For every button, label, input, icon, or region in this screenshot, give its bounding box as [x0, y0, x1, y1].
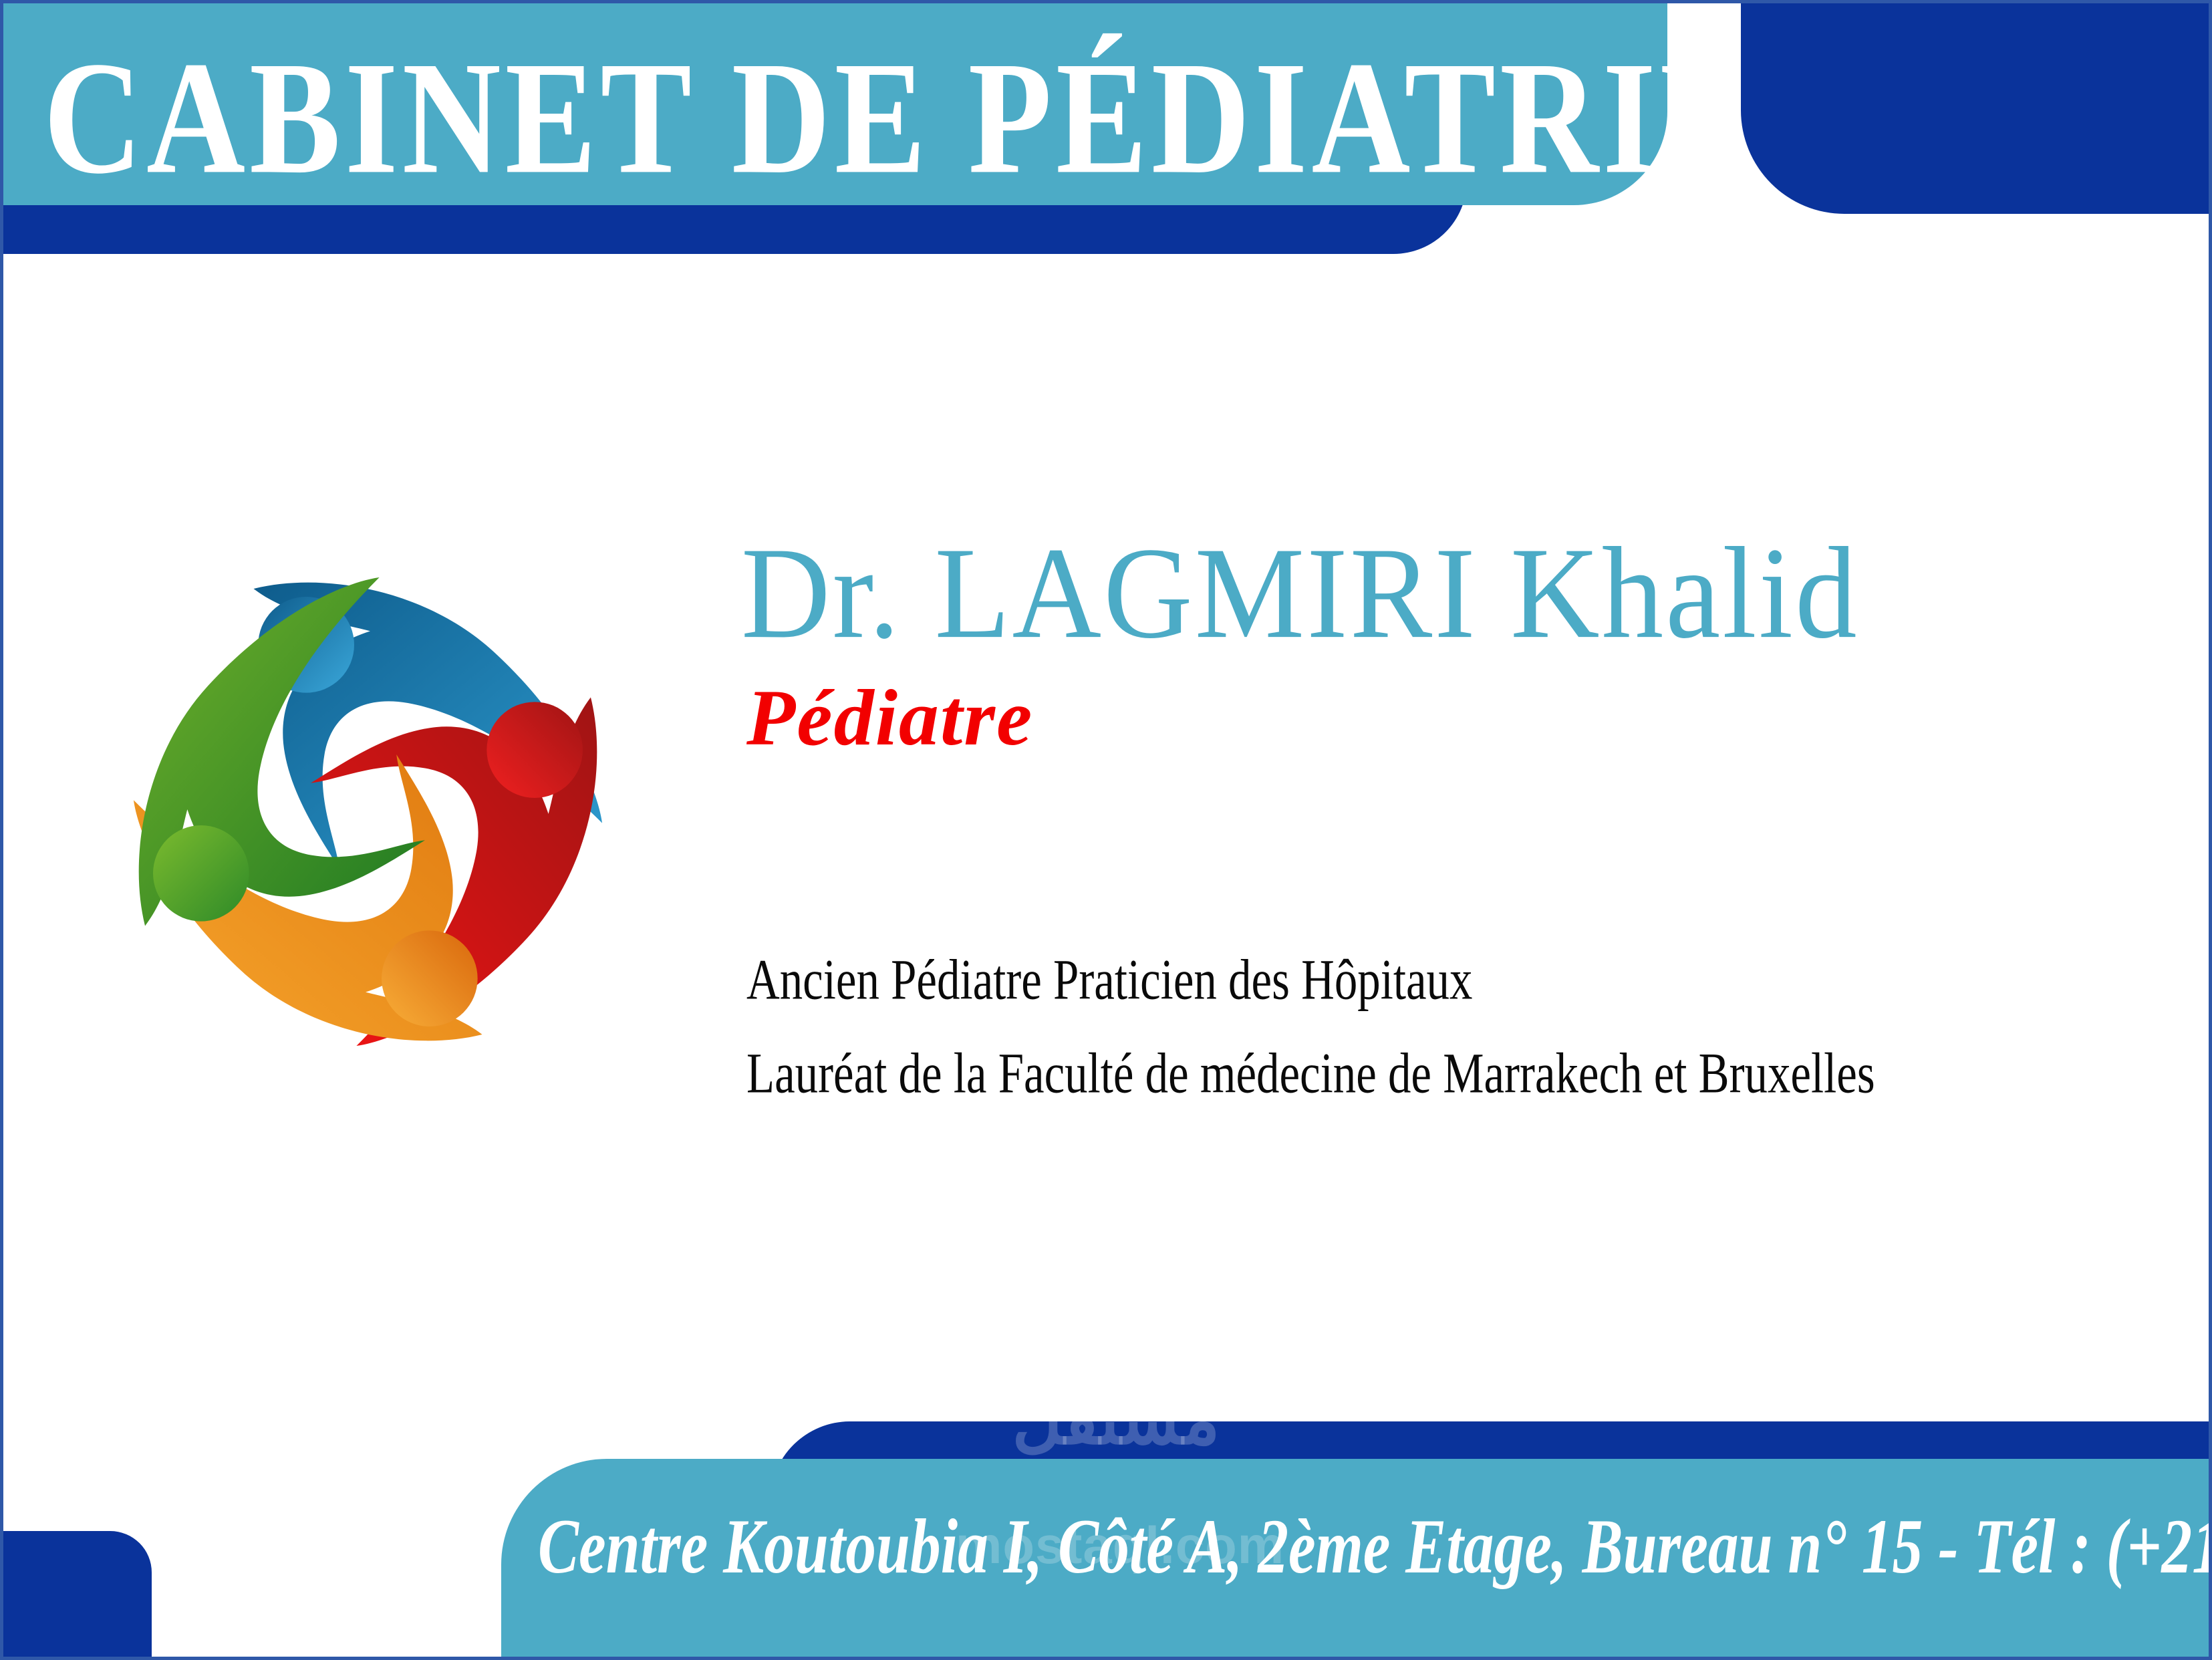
credential-line: Ancien Pédiatre Praticien des Hôpitaux — [746, 947, 1472, 1013]
doctor-specialty: Pédiatre — [746, 672, 1033, 764]
contact-address-phone: Centre Koutoubia I, Côté A, 2ème Etage, … — [538, 1502, 2212, 1591]
header-blue-right-block — [1741, 3, 2209, 214]
clinic-logo-icon — [82, 526, 654, 1097]
business-card: CABINET DE PÉDIATRIE — [0, 0, 2212, 1660]
footer-blue-left-block — [3, 1531, 152, 1657]
clinic-title: CABINET DE PÉDIATRIE — [43, 13, 1621, 224]
credential-line: Lauréat de la Faculté de médecine de Mar… — [746, 1041, 1875, 1107]
doctor-name: Dr. LAGMIRI Khalid — [741, 518, 1859, 669]
watermark-arabic: مستقل — [956, 1385, 1276, 1455]
header-teal-bar: CABINET DE PÉDIATRIE — [3, 3, 1667, 205]
